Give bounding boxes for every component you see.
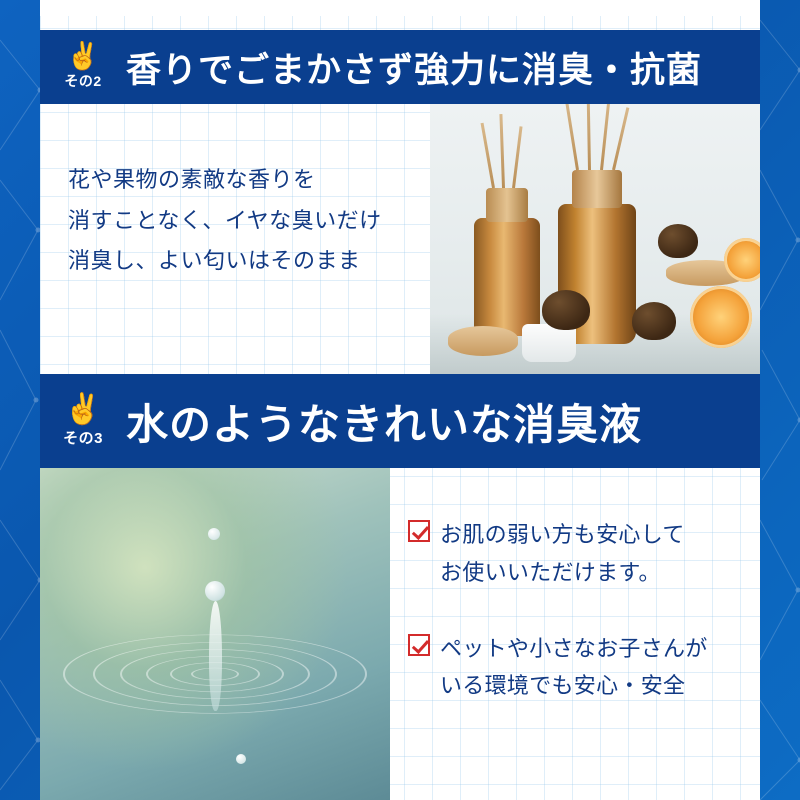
amber-bottle-small [474, 218, 540, 336]
water-droplet-ripple-photo [40, 468, 390, 800]
wooden-lid [448, 326, 518, 356]
dried-orange-slice [690, 286, 752, 348]
section-3-badge-label: その3 [63, 427, 103, 448]
section-2-badge: ✌ その2 [40, 30, 126, 104]
peace-hand-icon: ✌ [66, 43, 100, 70]
checklist-line: ペットや小さなお子さんが [440, 636, 708, 661]
checklist-line: お肌の弱い方も安心して [440, 522, 685, 547]
reed-stick [565, 104, 579, 170]
checklist-item-text: ペットや小さなお子さんが いる環境でも安心・安全 [440, 630, 708, 706]
section-3-title: 水のようなきれいな消臭液 [126, 391, 642, 452]
section-3-checklist: お肌の弱い方も安心して お使いいただけます。 ペットや小さなお子さんが いる環境… [408, 516, 748, 743]
water-column [209, 601, 222, 711]
reed-stick [481, 123, 495, 189]
section-3-body: お肌の弱い方も安心して お使いいただけます。 ペットや小さなお子さんが いる環境… [40, 468, 760, 800]
checklist-item: ペットや小さなお子さんが いる環境でも安心・安全 [408, 630, 748, 706]
reed-stick [600, 104, 611, 170]
section-2-body-line: 花や果物の素敵な香りを [68, 160, 382, 201]
section-2-heading-bar: ✌ その2 香りでごまかさず強力に消臭・抗菌 [40, 30, 760, 104]
water-droplet [236, 754, 246, 764]
section-2-body-line: 消臭し、よい匂いはそのまま [68, 241, 382, 282]
pine-cone [632, 302, 676, 340]
red-checkbox-icon [408, 520, 430, 542]
water-droplet [208, 528, 220, 540]
content-sheet: ✌ その2 香りでごまかさず強力に消臭・抗菌 [40, 0, 760, 800]
reed-stick [587, 104, 591, 170]
section-3-heading-bar: ✌ その3 水のようなきれいな消臭液 [40, 374, 760, 468]
section-2-badge-label: その2 [64, 71, 101, 91]
reed-stick [612, 107, 629, 170]
checklist-item-text: お肌の弱い方も安心して お使いいただけます。 [440, 516, 685, 592]
reed-diffuser-bottles-photo [430, 104, 760, 374]
section-2-title: 香りでごまかさず強力に消臭・抗菌 [126, 42, 702, 93]
peace-hand-icon: ✌ [64, 395, 101, 425]
checklist-line: いる環境でも安心・安全 [440, 673, 685, 698]
section-2-body-line: 消すことなく、イヤな臭いだけ [68, 201, 382, 242]
reed-stick [512, 126, 523, 188]
previous-section-fragment [40, 0, 760, 16]
pine-cone [542, 290, 590, 330]
checklist-line: お使いいただけます。 [440, 560, 661, 585]
checklist-item: お肌の弱い方も安心して お使いいただけます。 [408, 516, 748, 592]
dried-orange-slice [724, 238, 760, 282]
section-2-body-text: 花や果物の素敵な香りを 消すことなく、イヤな臭いだけ 消臭し、よい匂いはそのまま [68, 160, 382, 282]
pine-cone [658, 224, 698, 258]
promo-page: ✌ その2 香りでごまかさず強力に消臭・抗菌 [0, 0, 800, 800]
water-droplet [205, 581, 225, 601]
section-2-body: 花や果物の素敵な香りを 消すことなく、イヤな臭いだけ 消臭し、よい匂いはそのまま [40, 104, 760, 374]
section-3-badge: ✌ その3 [40, 374, 126, 468]
reed-stick [499, 114, 505, 188]
red-checkbox-icon [408, 634, 430, 656]
